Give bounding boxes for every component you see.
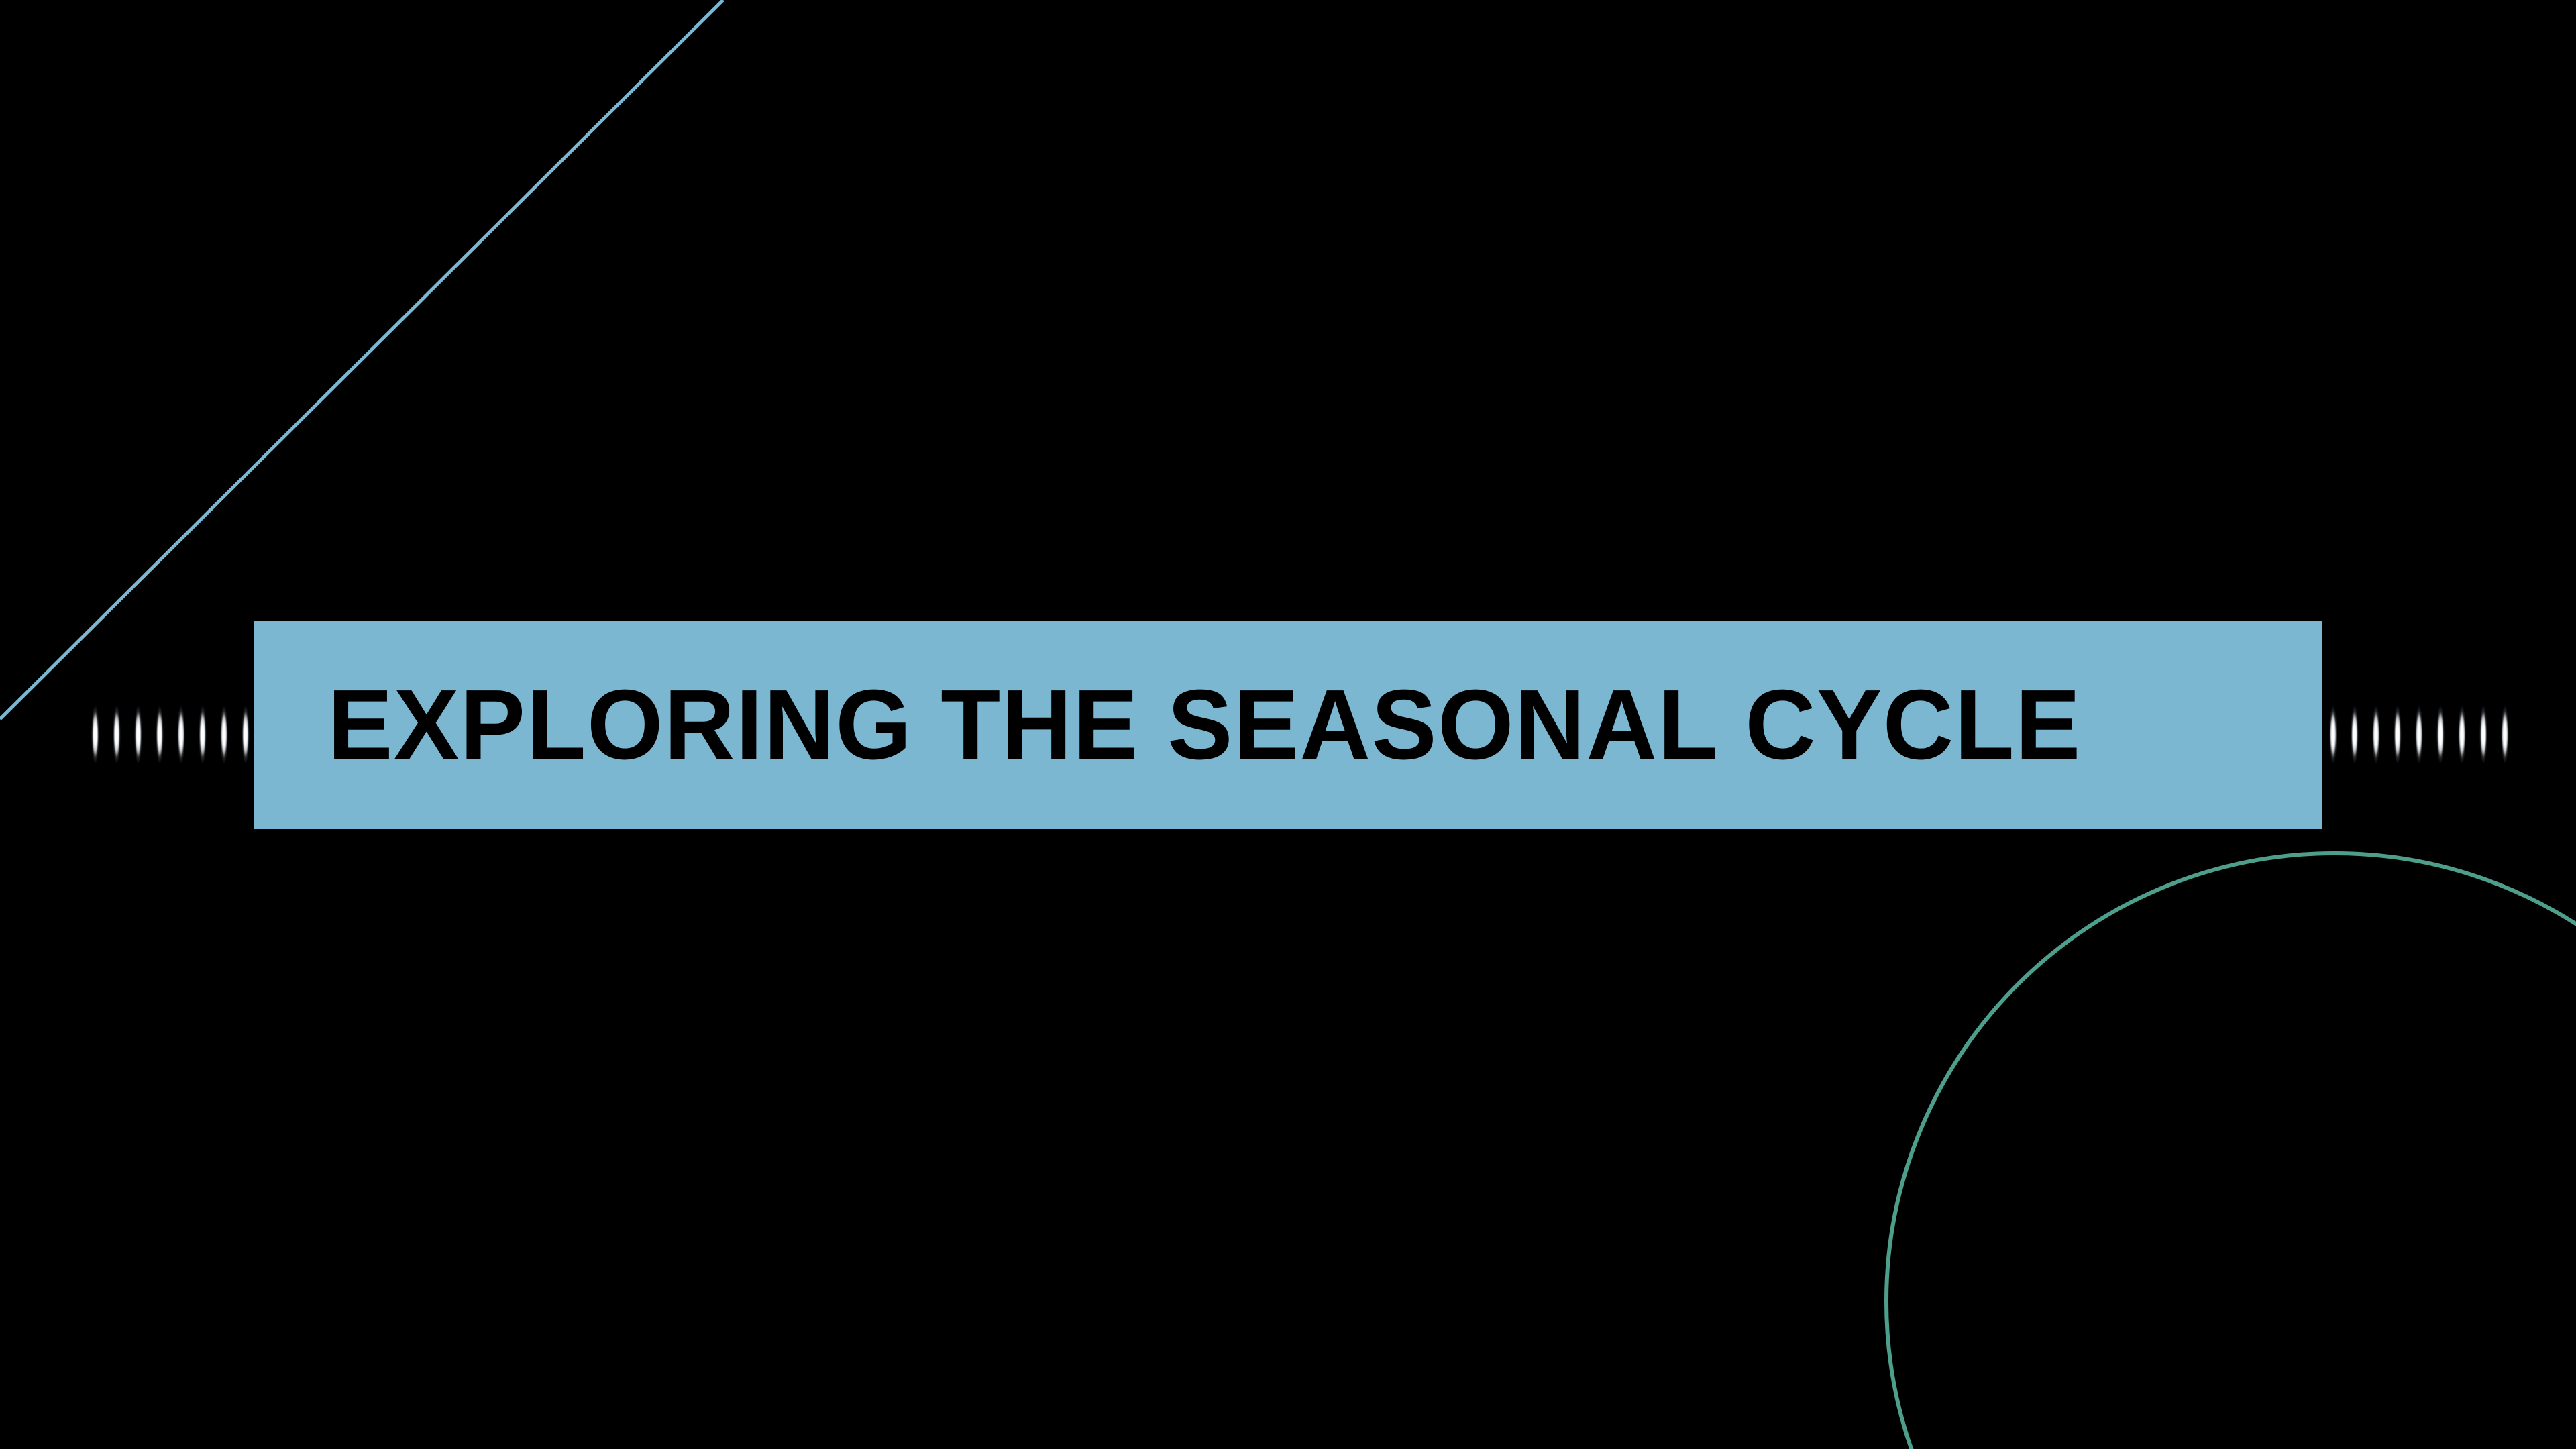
coil-hatch-right <box>2322 691 2510 778</box>
coil-tick <box>113 705 121 764</box>
coil-tick <box>2501 705 2509 764</box>
coil-tick <box>2479 705 2487 764</box>
coil-tick <box>2372 705 2380 764</box>
teal-circle-outline <box>1886 853 2576 1449</box>
slide-title: EXPLORING THE SEASONAL CYCLE <box>254 676 2082 775</box>
coil-tick <box>2329 705 2337 764</box>
coil-tick <box>241 705 250 764</box>
coil-tick <box>177 705 185 764</box>
coil-tick <box>2436 705 2445 764</box>
coil-tick <box>2458 705 2466 764</box>
coil-tick <box>220 705 228 764</box>
title-slide: EXPLORING THE SEASONAL CYCLE <box>0 0 2576 1449</box>
coil-tick <box>2394 705 2402 764</box>
coil-tick <box>2415 705 2423 764</box>
diagonal-accent-line <box>0 0 723 719</box>
coil-tick <box>134 705 142 764</box>
coil-tick <box>2351 705 2359 764</box>
coil-tick <box>156 705 164 764</box>
coil-tick <box>91 705 99 764</box>
coil-tick <box>199 705 207 764</box>
title-banner: EXPLORING THE SEASONAL CYCLE <box>254 621 2322 829</box>
coil-hatch-left <box>80 691 256 778</box>
